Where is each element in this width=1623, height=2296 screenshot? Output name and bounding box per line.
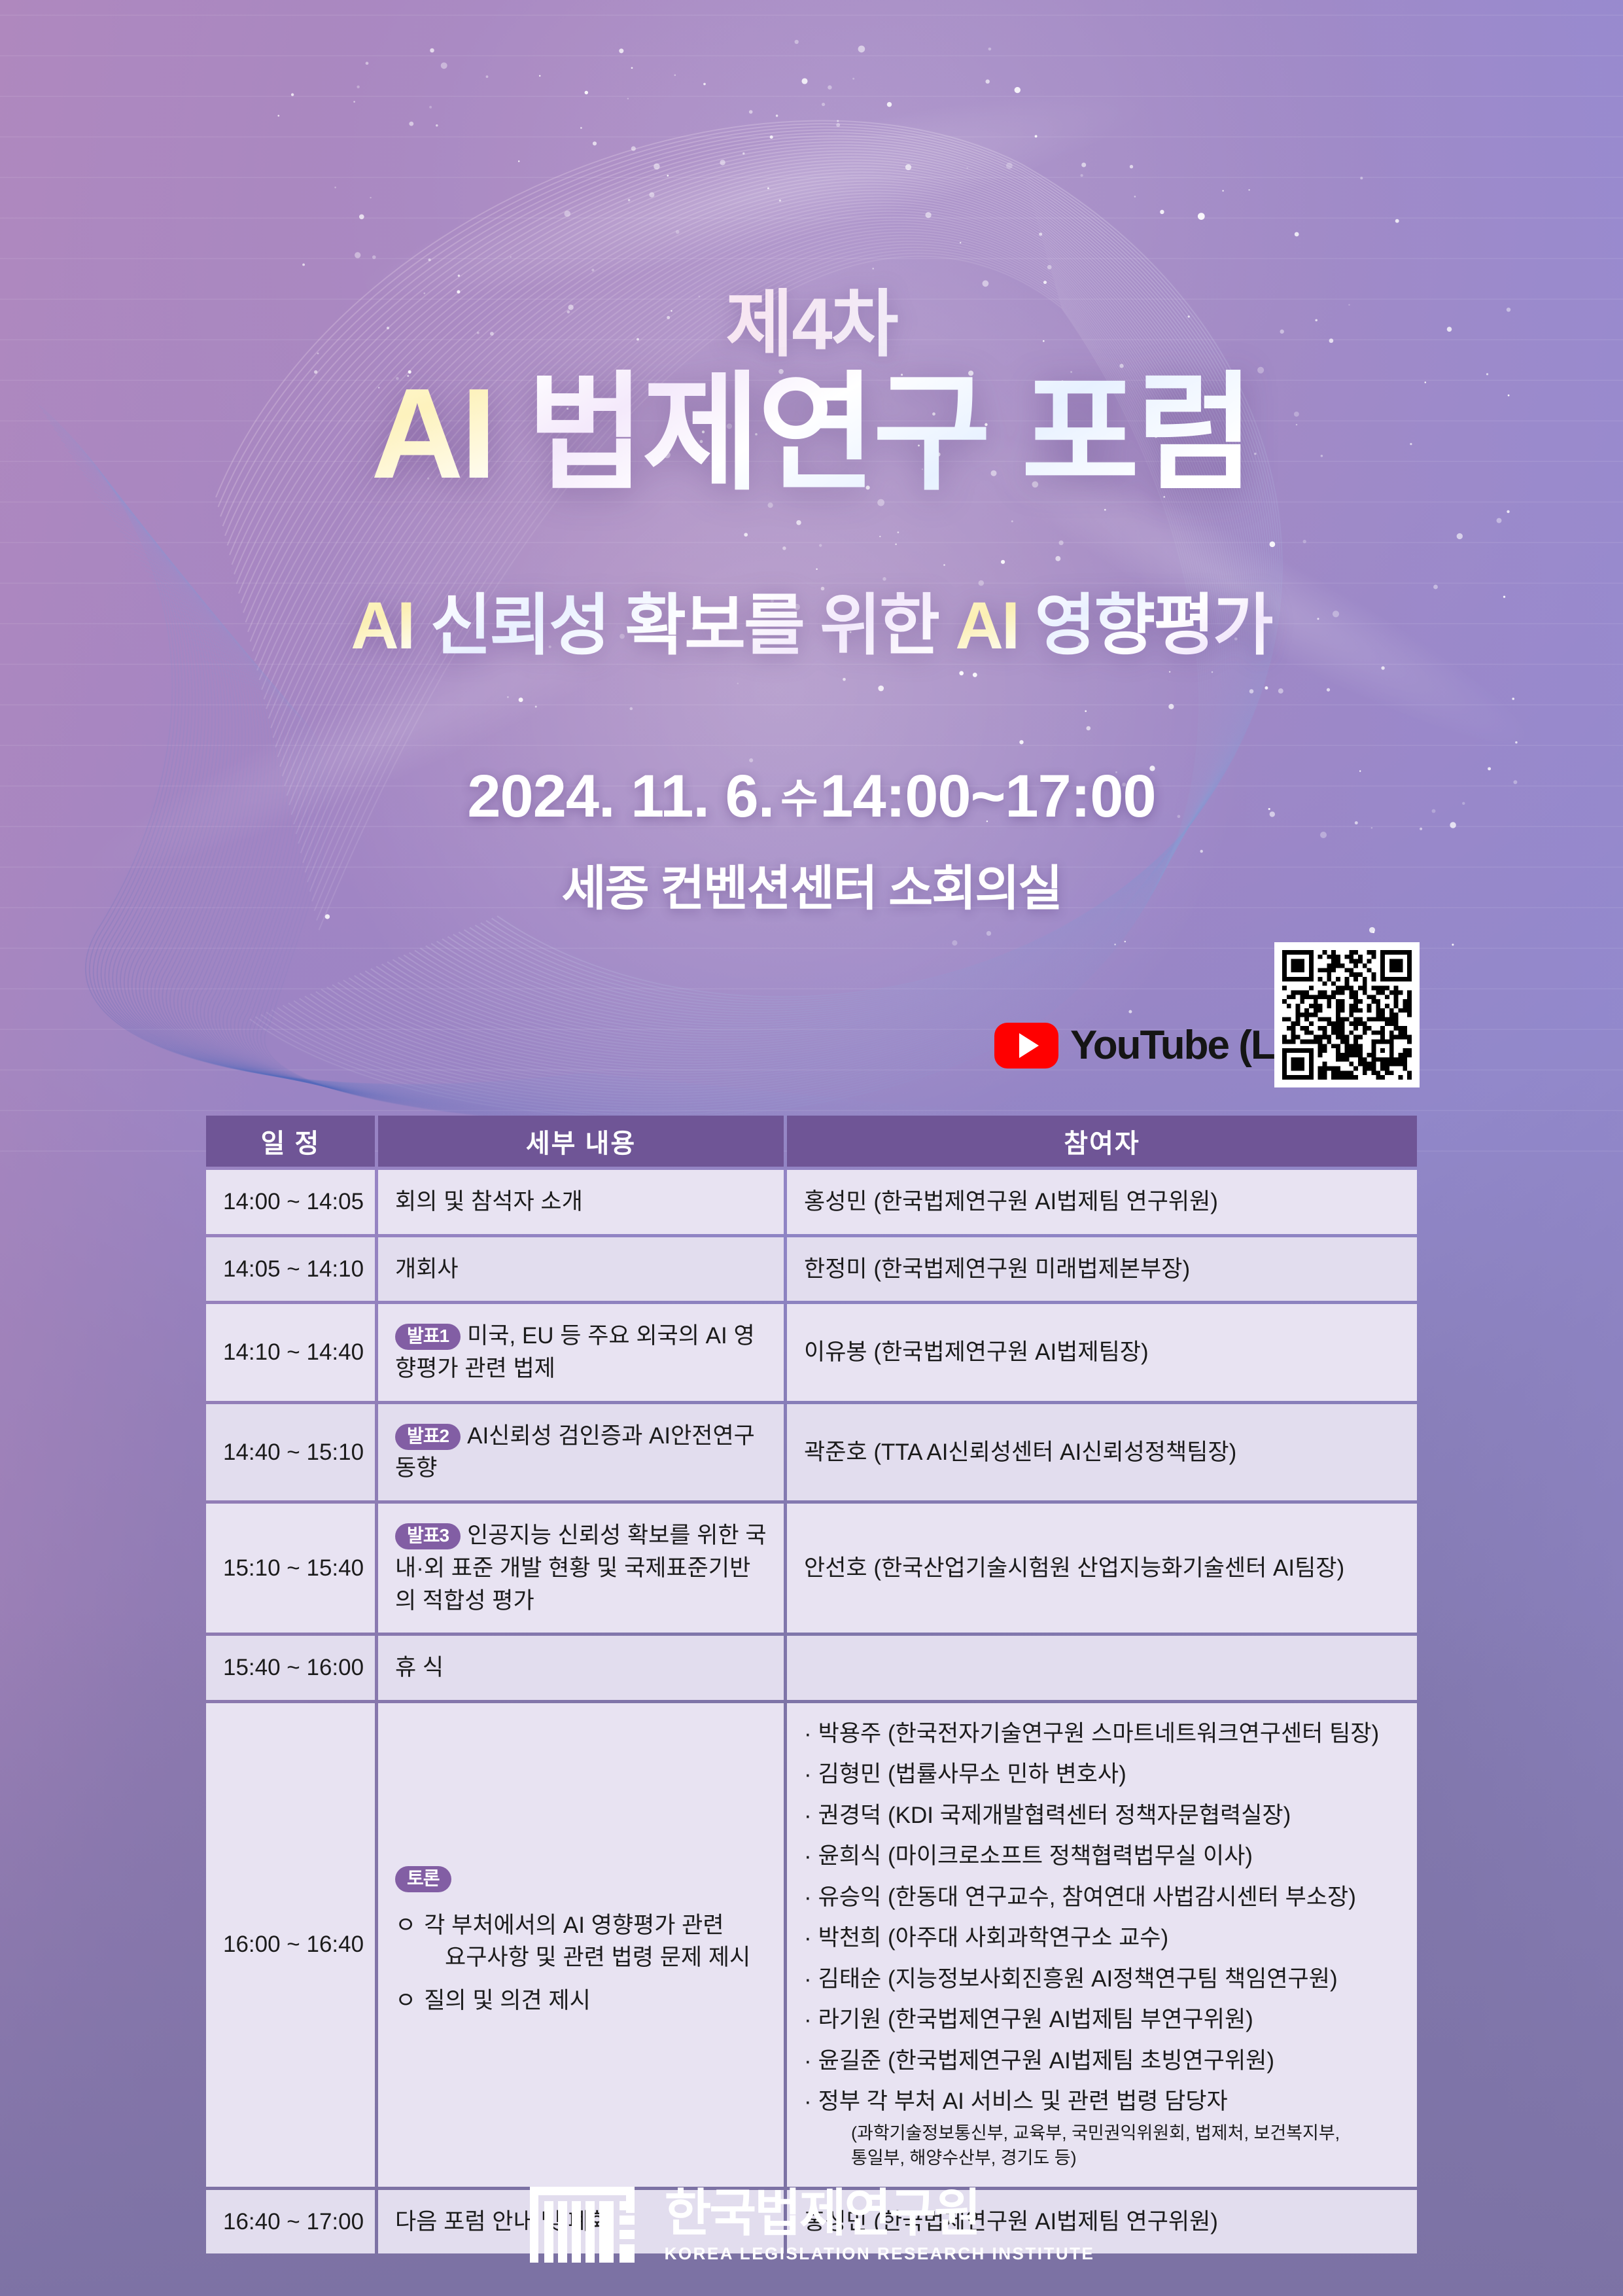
event-ordinal: 제4차 bbox=[0, 288, 1623, 361]
table-row: 14:40 ~ 15:10발표2AI신뢰성 검인증과 AI안전연구 동향곽준호 … bbox=[206, 1404, 1417, 1500]
cell-detail: 발표2AI신뢰성 검인증과 AI안전연구 동향 bbox=[378, 1404, 784, 1500]
cell-time: 14:00 ~ 14:05 bbox=[206, 1170, 375, 1234]
discussion-badge-row: 토론 bbox=[395, 1862, 767, 1895]
cell-participant-empty bbox=[787, 1636, 1417, 1700]
title-ai-word: AI bbox=[371, 362, 494, 505]
list-item: ·정부 각 부처 AI 서비스 및 관련 법령 담당자(과학기술정보통신부, 교… bbox=[804, 2087, 1400, 2170]
list-item: ·라기원 (한국법제연구원 AI법제팀 부연구위원) bbox=[804, 2005, 1400, 2035]
cell-participant: 안선호 (한국산업기술시험원 산업지능화기술센터 AI팀장) bbox=[787, 1504, 1417, 1633]
detail-with-badge: 발표1미국, EU 등 주요 외국의 AI 영향평가 관련 법제 bbox=[395, 1320, 767, 1385]
page-subtitle: AI 신뢰성 확보를 위한 AI 영향평가 bbox=[0, 589, 1623, 662]
cell-time: 14:10 ~ 14:40 bbox=[206, 1304, 375, 1400]
play-triangle-icon bbox=[994, 1023, 1058, 1069]
list-item: ·김형민 (법률사무소 민하 변호사) bbox=[804, 1759, 1400, 1790]
detail-with-badge: 발표3인공지능 신뢰성 확보를 위한 국내·외 표준 개발 현황 및 국제표준기… bbox=[395, 1519, 767, 1617]
qr-code-icon[interactable] bbox=[1274, 942, 1420, 1087]
circle-bullet-icon: ㅇ bbox=[395, 1988, 416, 2013]
list-item: ·박용주 (한국전자기술연구원 스마트네트워크연구센터 팀장) bbox=[804, 1719, 1400, 1749]
discussion-item: ㅇ각 부처에서의 AI 영향평가 관련요구사항 및 관련 법령 문제 제시 bbox=[395, 1909, 767, 1974]
cell-detail: 회의 및 참석자 소개 bbox=[378, 1170, 784, 1234]
agenda-table: 일 정 세부 내용 참여자 14:00 ~ 14:05회의 및 참석자 소개홍성… bbox=[203, 1112, 1420, 2257]
event-datetime: 2024. 11. 6.수14:00~17:00 bbox=[0, 762, 1623, 831]
table-row-discussion: 16:00 ~ 16:40토론ㅇ각 부처에서의 AI 영향평가 관련요구사항 및… bbox=[206, 1703, 1417, 2187]
dot-bullet-icon: · bbox=[804, 1925, 812, 1951]
list-item: ·윤길준 (한국법제연구원 AI법제팀 초빙연구위원) bbox=[804, 2046, 1400, 2076]
subtitle-end: 영향평가 bbox=[1035, 588, 1272, 663]
discussion-item: ㅇ질의 및 의견 제시 bbox=[395, 1985, 767, 2017]
cell-detail: 발표3인공지능 신뢰성 확보를 위한 국내·외 표준 개발 현황 및 국제표준기… bbox=[378, 1504, 784, 1633]
poster-canvas: 제4차 AI 법제연구 포럼 AI 신뢰성 확보를 위한 AI 영향평가 202… bbox=[0, 0, 1623, 2296]
list-item: ·박천희 (아주대 사회과학연구소 교수) bbox=[804, 1923, 1400, 1953]
participant-list: ·박용주 (한국전자기술연구원 스마트네트워크연구센터 팀장)·김형민 (법률사… bbox=[804, 1719, 1400, 2171]
subtitle-middle: 신뢰성 확보를 위한 bbox=[430, 588, 938, 663]
subtitle-ai-word-2: AI bbox=[955, 588, 1018, 663]
dot-bullet-icon: · bbox=[804, 1843, 812, 1869]
cell-detail: 개회사 bbox=[378, 1237, 784, 1301]
table-row: 15:10 ~ 15:40발표3인공지능 신뢰성 확보를 위한 국내·외 표준 … bbox=[206, 1504, 1417, 1633]
column-header-schedule: 일 정 bbox=[206, 1116, 375, 1167]
dot-bullet-icon: · bbox=[804, 2089, 812, 2114]
subtitle-ai-word: AI bbox=[351, 588, 413, 663]
cell-participant: 이유봉 (한국법제연구원 AI법제팀장) bbox=[787, 1304, 1417, 1400]
table-row: 15:40 ~ 16:00휴 식 bbox=[206, 1636, 1417, 1700]
footer-logo: 한국법제연구원 KOREA LEGISLATION RESEARCH INSTI… bbox=[0, 2185, 1623, 2264]
participant-note: (과학기술정보통신부, 교육부, 국민권익위원회, 법제처, 보건복지부,통일부… bbox=[821, 2121, 1400, 2171]
session-badge: 발표3 bbox=[395, 1523, 461, 1549]
cell-participant: 한정미 (한국법제연구원 미래법제본부장) bbox=[787, 1237, 1417, 1301]
org-name-english: KOREA LEGISLATION RESEARCH INSTITUTE bbox=[665, 2245, 1095, 2262]
event-date: 2024. 11. 6. bbox=[467, 763, 774, 830]
cell-time: 15:40 ~ 16:00 bbox=[206, 1636, 375, 1700]
list-item: ·김태순 (지능정보사회진흥원 AI정책연구팀 책임연구원) bbox=[804, 1964, 1400, 1994]
cell-discussion-participants: ·박용주 (한국전자기술연구원 스마트네트워크연구센터 팀장)·김형민 (법률사… bbox=[787, 1703, 1417, 2187]
kli-barcode-logo-icon bbox=[529, 2185, 650, 2264]
dot-bullet-icon: · bbox=[804, 1966, 812, 1992]
dot-bullet-icon: · bbox=[804, 1884, 812, 1910]
footer-logo-text: 한국법제연구원 KOREA LEGISLATION RESEARCH INSTI… bbox=[665, 2187, 1095, 2262]
table-row: 14:05 ~ 14:10개회사한정미 (한국법제연구원 미래법제본부장) bbox=[206, 1237, 1417, 1301]
column-header-detail: 세부 내용 bbox=[378, 1116, 784, 1167]
cell-time: 14:40 ~ 15:10 bbox=[206, 1404, 375, 1500]
page-title: AI 법제연구 포럼 bbox=[0, 366, 1623, 501]
cell-detail: 발표1미국, EU 등 주요 외국의 AI 영향평가 관련 법제 bbox=[378, 1304, 784, 1400]
event-day-of-week: 수 bbox=[780, 777, 817, 822]
list-item: ·유승익 (한동대 연구교수, 참여연대 사법감시센터 부소장) bbox=[804, 1882, 1400, 1913]
circle-bullet-icon: ㅇ bbox=[395, 1913, 416, 1938]
event-time-range: 14:00~17:00 bbox=[820, 763, 1155, 830]
dot-bullet-icon: · bbox=[804, 1721, 812, 1746]
cell-participant: 홍성민 (한국법제연구원 AI법제팀 연구위원) bbox=[787, 1170, 1417, 1234]
table-row: 14:00 ~ 14:05회의 및 참석자 소개홍성민 (한국법제연구원 AI법… bbox=[206, 1170, 1417, 1234]
cell-detail: 휴 식 bbox=[378, 1636, 784, 1700]
dot-bullet-icon: · bbox=[804, 2048, 812, 2074]
discussion-item-line2: 요구사항 및 관련 법령 문제 제시 bbox=[420, 1941, 767, 1974]
list-item: ·권경덕 (KDI 국제개발협력센터 정책자문협력실장) bbox=[804, 1801, 1400, 1831]
column-header-participants: 참여자 bbox=[787, 1116, 1417, 1167]
dot-bullet-icon: · bbox=[804, 1803, 812, 1828]
table-header-row: 일 정 세부 내용 참여자 bbox=[206, 1116, 1417, 1167]
session-badge: 토론 bbox=[395, 1866, 451, 1892]
org-name-korean: 한국법제연구원 bbox=[665, 2187, 979, 2238]
cell-time: 14:05 ~ 14:10 bbox=[206, 1237, 375, 1301]
session-badge: 발표2 bbox=[395, 1424, 461, 1450]
cell-participant: 곽준호 (TTA AI신뢰성센터 AI신뢰성정책팀장) bbox=[787, 1404, 1417, 1500]
table-row: 14:10 ~ 14:40발표1미국, EU 등 주요 외국의 AI 영향평가 … bbox=[206, 1304, 1417, 1400]
dot-bullet-icon: · bbox=[804, 2007, 812, 2032]
cell-discussion-detail: 토론ㅇ각 부처에서의 AI 영향평가 관련요구사항 및 관련 법령 문제 제시ㅇ… bbox=[378, 1703, 784, 2187]
dot-bullet-icon: · bbox=[804, 1761, 812, 1787]
cell-time: 16:00 ~ 16:40 bbox=[206, 1703, 375, 2187]
cell-time: 15:10 ~ 15:40 bbox=[206, 1504, 375, 1633]
detail-with-badge: 발표2AI신뢰성 검인증과 AI안전연구 동향 bbox=[395, 1420, 767, 1485]
list-item: ·윤희식 (마이크로소프트 정책협력법무실 이사) bbox=[804, 1841, 1400, 1871]
event-venue: 세종 컨벤션센터 소회의실 bbox=[0, 849, 1623, 919]
session-badge: 발표1 bbox=[395, 1324, 461, 1350]
title-rest: 법제연구 포럼 bbox=[527, 362, 1252, 505]
